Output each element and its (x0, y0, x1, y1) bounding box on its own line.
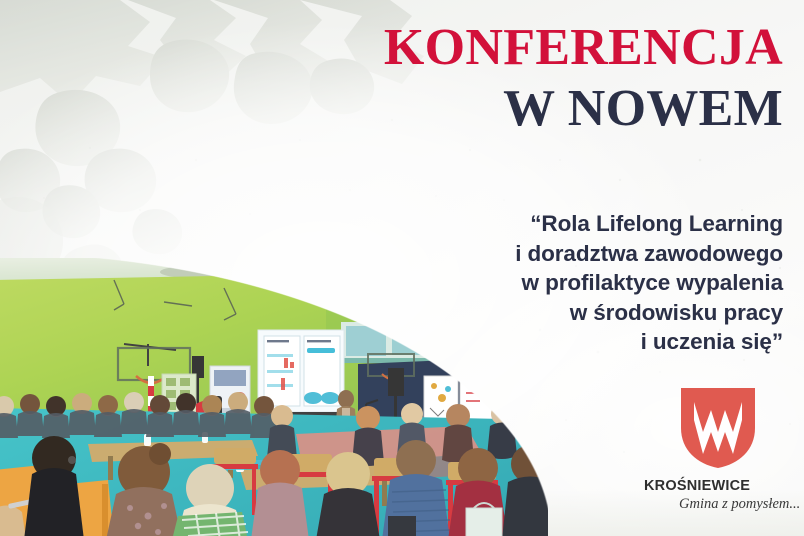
conference-theme-quote: “Rola Lifelong Learning i doradztwa zawo… (323, 209, 783, 357)
quote-line-1: “Rola Lifelong Learning (323, 209, 783, 239)
quote-line-3: w profilaktyce wypalenia (323, 268, 783, 298)
krosniewice-coat-of-arms-shield-icon (679, 386, 757, 470)
headline-line-1: KONFERENCJA (363, 22, 783, 74)
quote-line-5: i uczenia się” (323, 327, 783, 357)
headline-line-2: W NOWEM (363, 83, 783, 135)
logo-tagline: Gmina z pomysłem... (679, 496, 800, 513)
poster-canvas: KONFERENCJA W NOWEM “Rola Lifelong Learn… (0, 0, 804, 536)
quote-line-2: i doradztwa zawodowego (323, 239, 783, 269)
logo-municipality-name: KROŚNIEWICE (644, 478, 750, 494)
quote-line-4: w środowisku pracy (323, 298, 783, 328)
poster-headline: KONFERENCJA W NOWEM (363, 22, 783, 135)
krosniewice-logo: KROŚNIEWICE Gmina z pomysłem... (641, 386, 793, 518)
